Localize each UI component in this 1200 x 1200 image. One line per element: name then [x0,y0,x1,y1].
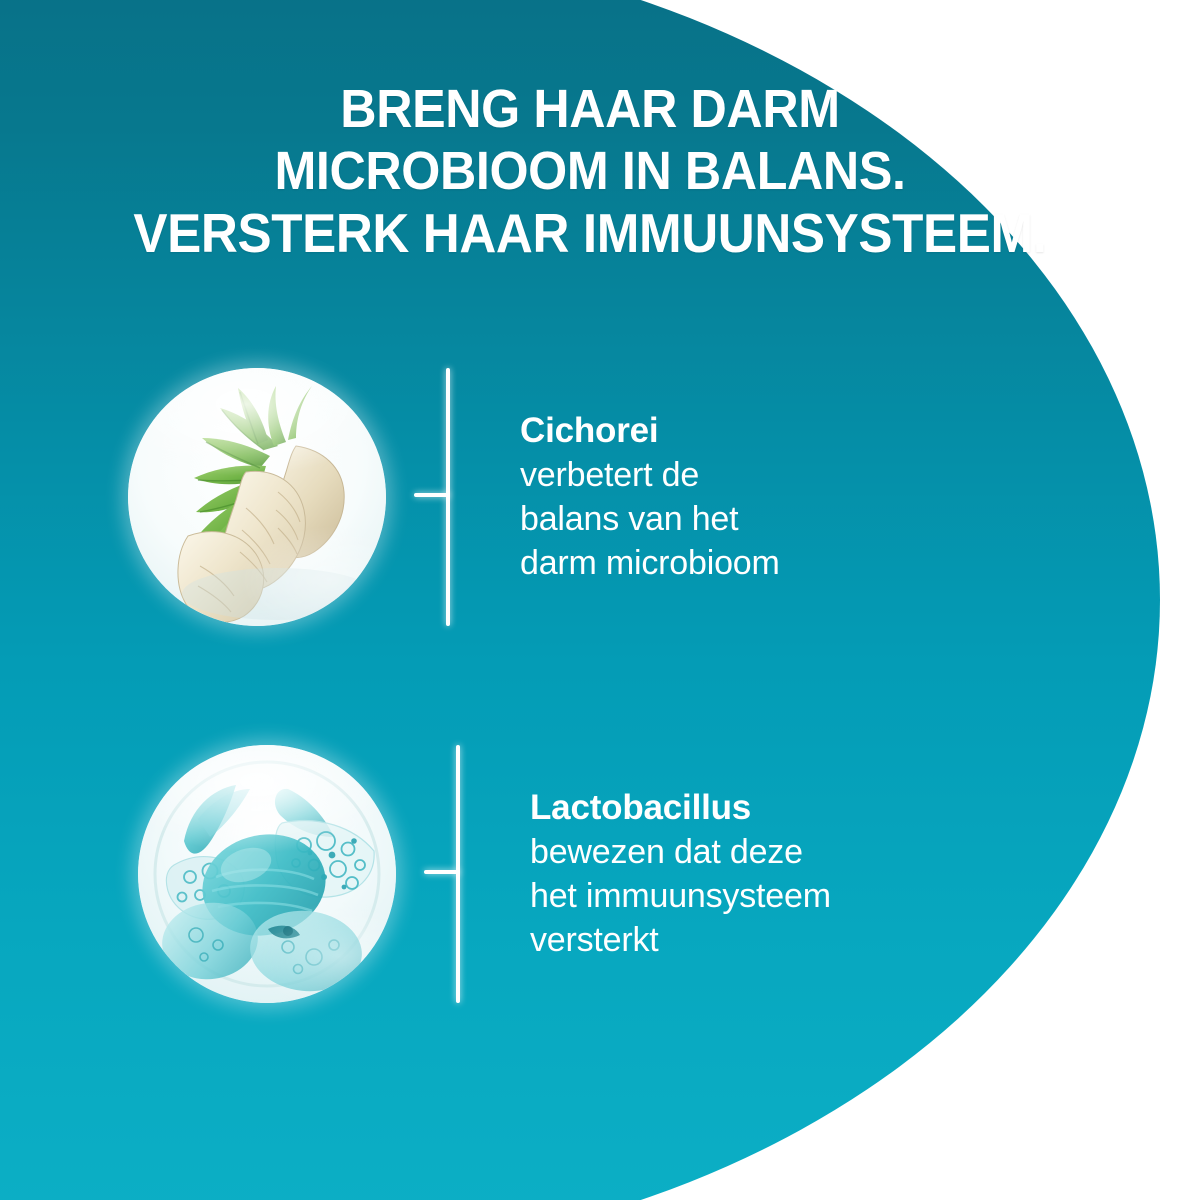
feature-divider-bracket [396,745,486,1003]
feature-title: Lactobacillus [530,786,831,830]
divider-vertical-line [456,745,460,1003]
feature-description-line-2: het immuunsysteem [530,874,831,918]
feature-description-line-3: versterkt [530,918,831,962]
page-title: BRENG HAAR DARM MICROBIOOM IN BALANS. VE… [41,78,1138,264]
feature-description-line-2: balans van het [520,497,780,541]
feature-description-line-1: bewezen dat deze [530,830,831,874]
headline-line-2: MICROBIOOM IN BALANS. [41,140,1138,202]
divider-horizontal-tick [424,870,460,874]
divider-horizontal-tick [414,493,450,497]
bacteria-illustration [138,745,396,1003]
feature-lactobacillus: Lactobacillus bewezen dat deze het immuu… [138,745,831,1003]
lactobacillus-petri-dish-image [138,745,396,1003]
banner-canvas: BRENG HAAR DARM MICROBIOOM IN BALANS. VE… [0,0,1200,1200]
feature-text-cichorei: Cichorei verbetert de balans van het dar… [520,409,780,585]
feature-description-line-3: darm microbioom [520,541,780,585]
headline-line-3: VERSTERK HAAR IMMUUNSYSTEEM. [41,202,1138,264]
chicory-illustration [128,368,386,626]
feature-title: Cichorei [520,409,780,453]
divider-vertical-line [446,368,450,626]
feature-divider-bracket [386,368,476,626]
feature-description-line-1: verbetert de [520,453,780,497]
chicory-petri-dish-image [128,368,386,626]
headline-line-1: BRENG HAAR DARM [41,78,1138,140]
feature-text-lactobacillus: Lactobacillus bewezen dat deze het immuu… [530,786,831,962]
feature-cichorei: Cichorei verbetert de balans van het dar… [128,368,780,626]
